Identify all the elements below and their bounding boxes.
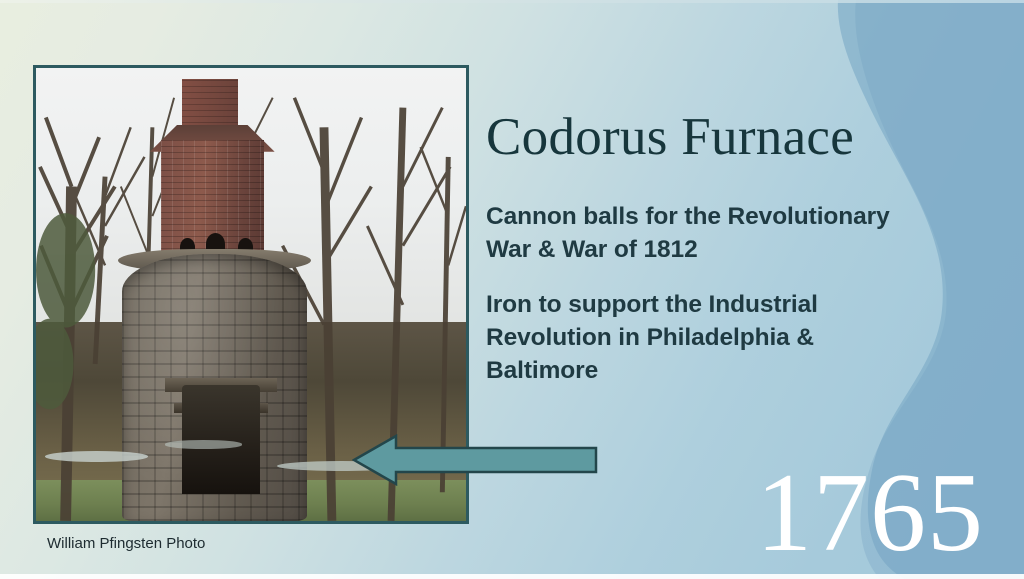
top-edge-strip xyxy=(0,0,1024,3)
bullet-text-1: Cannon balls for the Revolutionary War &… xyxy=(486,200,941,266)
photo-snow-patch xyxy=(165,440,242,448)
bullet-text-2: Iron to support the Industrial Revolutio… xyxy=(486,288,876,387)
photo-credit-caption: William Pfingsten Photo xyxy=(47,535,205,552)
year-label: 1765 xyxy=(756,457,984,569)
presentation-slide: Codorus Furnace Cannon balls for the Rev… xyxy=(0,0,1024,579)
furnace-chimney-top xyxy=(182,79,238,129)
left-pointing-arrow xyxy=(352,434,598,486)
page-title: Codorus Furnace xyxy=(486,110,854,166)
